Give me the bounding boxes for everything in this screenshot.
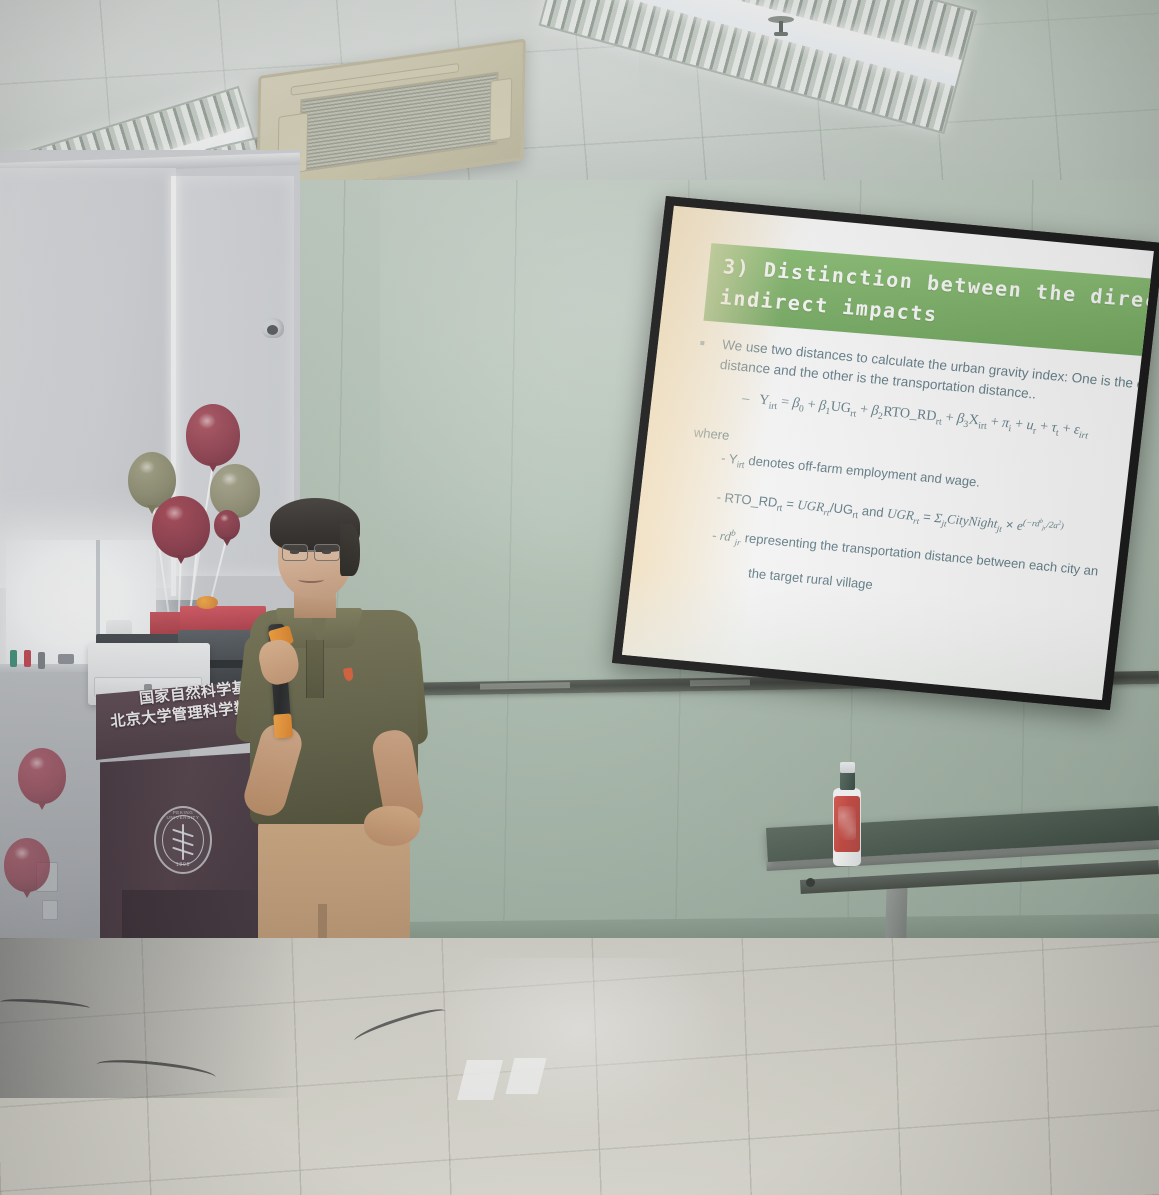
def2-f: UGR: [886, 506, 914, 523]
def2-exp: (−rdbjr/2a2): [1023, 517, 1065, 531]
hair-side: [340, 524, 360, 576]
eyeglasses-lens: [282, 544, 308, 561]
seal-glyph: [170, 824, 196, 860]
security-camera-icon: [262, 318, 284, 338]
eq-sub: irt: [1078, 431, 1088, 442]
slide-body: We use two distances to calculate the ur…: [672, 333, 1154, 638]
sill-object: [38, 652, 45, 669]
right-hand: [364, 806, 420, 846]
floor-reflection-sheen: [430, 958, 730, 1138]
def2-a: - RTO_RD: [716, 490, 778, 511]
def2-d: /UG: [829, 500, 854, 517]
sill-object: [24, 650, 31, 667]
sill-object: [58, 654, 74, 664]
eyeglasses-lens: [314, 544, 340, 561]
eyeglasses-bridge: [308, 550, 316, 552]
def2-e: and: [858, 503, 889, 521]
bottle-neck: [840, 772, 855, 790]
table-bolt: [806, 878, 815, 887]
ac-vane: [489, 78, 512, 142]
shirt-placket: [306, 640, 324, 698]
sill-object: [10, 650, 17, 667]
def2-o: b: [1039, 519, 1043, 525]
def2-s: ): [1060, 521, 1064, 531]
def3-a: - rd: [711, 527, 731, 544]
bottle-label-graphic: [838, 806, 856, 840]
drink-bottle: [831, 762, 863, 866]
orange-fruit: [196, 596, 218, 609]
wall-outlet[interactable]: [42, 900, 58, 920]
mouth: [298, 576, 324, 583]
seal-year: 1898: [156, 862, 210, 868]
bullet-dot-icon: [700, 341, 704, 345]
balloon: [4, 838, 50, 892]
projected-slide: 3) Distinction between the direct and in…: [622, 206, 1154, 700]
balloon: [186, 404, 240, 466]
bottle-label: [834, 796, 860, 852]
sprinkler-deflector: [774, 32, 788, 36]
def2-j: CityNight: [946, 512, 998, 532]
balloon: [152, 496, 210, 558]
microphone-grip-bottom: [273, 713, 293, 738]
eq-ug: UG: [830, 399, 852, 416]
fire-sprinkler-icon: [768, 16, 794, 38]
seal-arc-text: PEKING UNIVERSITY: [156, 810, 210, 820]
def2-c: UGR: [797, 497, 825, 514]
def2-n: (−rd: [1023, 517, 1041, 528]
peking-university-seal-icon: PEKING UNIVERSITY 1898: [154, 806, 212, 874]
balloon: [18, 748, 66, 804]
projection-screen: 3) Distinction between the direct and in…: [612, 196, 1159, 710]
bottle-cap: [840, 762, 855, 773]
window-blind: [0, 168, 176, 588]
eq-rtord: RTO_RD: [882, 404, 937, 424]
def2-q: /2a: [1046, 520, 1058, 531]
presentation-room-photo: PEKING UNIVERSITY 1898 国家自然科学基金 北京大学管理科学…: [0, 0, 1159, 1195]
